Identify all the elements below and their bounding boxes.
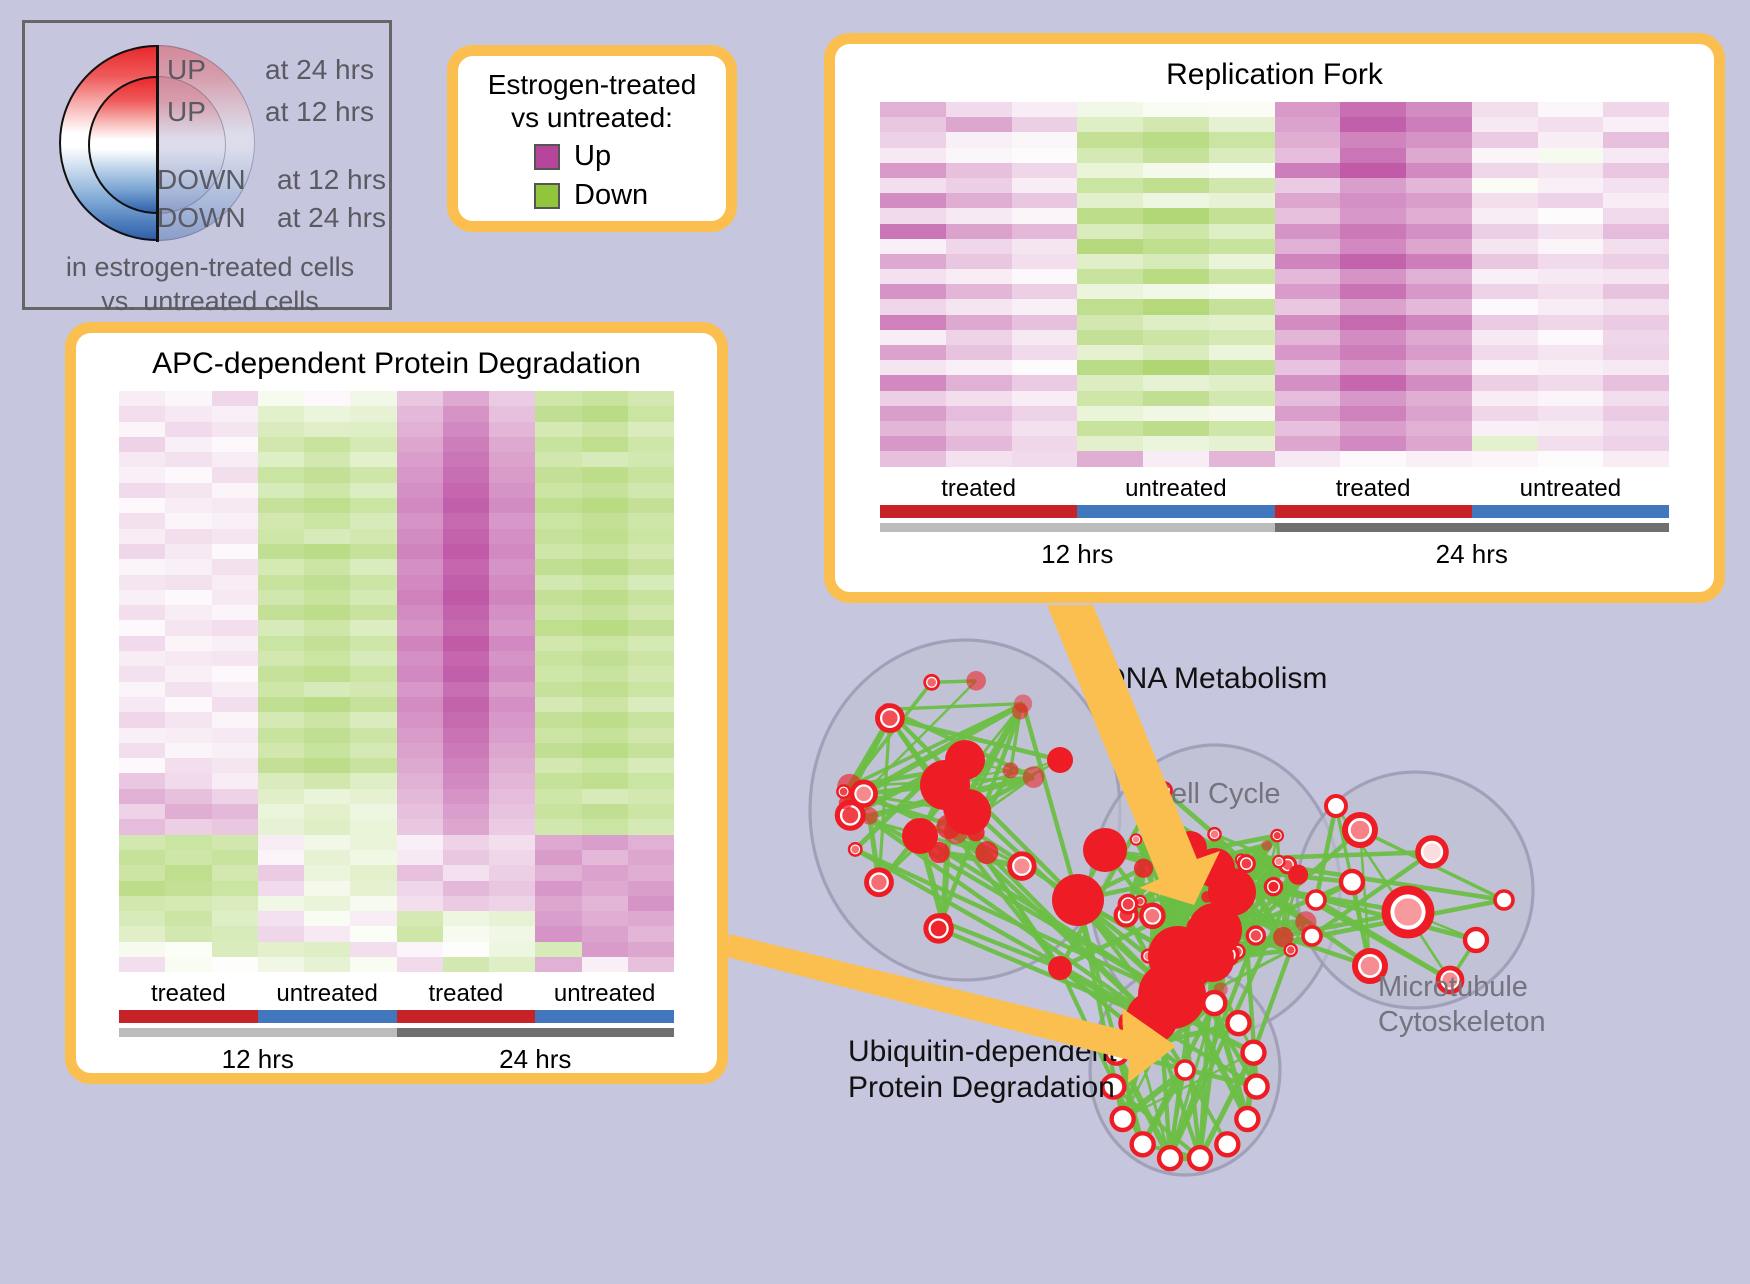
heatmap-cell [397,712,443,727]
heatmap-cell [1275,117,1341,132]
heatmap-cell [165,391,211,406]
group-label-0: treated [119,980,258,1008]
heatmap-cell [489,498,535,513]
heatmap-cell [443,498,489,513]
heatmap-cell [350,865,396,880]
heatmap-cell [489,406,535,421]
heatmap-cell [1472,421,1538,436]
heatmap-cell [946,436,1012,451]
heatmap-cell [304,452,350,467]
heatmap-cell [535,605,581,620]
heatmap-cell [258,406,304,421]
heatmap-cell [304,544,350,559]
heatmap-cell [350,926,396,941]
heatmap-cell [946,299,1012,314]
heatmap-cell [165,865,211,880]
heatmap-cell [628,773,674,788]
heatmap-cell [582,728,628,743]
heatmap-cell [1275,330,1341,345]
heatmap-cell [304,467,350,482]
heatmap-apc-degradation [119,391,674,972]
heatmap-cell [165,957,211,972]
legend-bar-segment [397,1028,675,1037]
heatmap-cell [1472,436,1538,451]
heatmap-cell [1077,360,1143,375]
heatmap-cell [946,391,1012,406]
heatmap-cell [165,926,211,941]
heatmap-cell [1012,391,1078,406]
heatmap-cell [1209,421,1275,436]
ring-time-down-24: at 24 hrs [277,202,386,234]
heatmap-cell [212,957,258,972]
heatmap-cell [258,605,304,620]
heatmap-cell [1077,117,1143,132]
heatmap-cell [258,467,304,482]
heatmap-cell [1275,391,1341,406]
heatmap-cell [535,590,581,605]
heatmap-cell [165,544,211,559]
heatmap-cell [1275,102,1341,117]
heatmap-cell [1012,284,1078,299]
network-node-core [1146,909,1160,923]
heatmap-cell [880,451,946,466]
heatmap-cell [880,375,946,390]
heatmap-cell [582,513,628,528]
heatmap-cell [165,728,211,743]
heatmap-cell [1143,360,1209,375]
heatmap-cell [489,697,535,712]
heatmap-cell [1012,345,1078,360]
heatmap-cell [628,743,674,758]
legend-bar-segment [1077,505,1274,518]
heatmap-cell [880,269,946,284]
heatmap-cell [165,575,211,590]
heatmap-cell [350,712,396,727]
heatmap-cell [304,804,350,819]
heatmap-cell [304,911,350,926]
heatmap-cell [165,636,211,651]
heatmap-cell [628,850,674,865]
group-label-2: treated [1275,475,1472,503]
heatmap-cell [489,682,535,697]
ring-legend-footer-line1: in estrogen-treated cells [25,251,395,285]
heatmap-cell [443,422,489,437]
panel-replication-fork: Replication Fork treated untreated treat… [824,33,1725,603]
heatmap-cell [443,743,489,758]
heatmap-cell [1012,375,1078,390]
heatmap-cell [946,163,1012,178]
network-node [1023,766,1045,788]
network-node [966,671,986,691]
heatmap-cell [1538,299,1604,314]
heatmap-cell [212,758,258,773]
network-node-core [1351,821,1370,840]
heatmap-cell [1143,345,1209,360]
heatmap-cell [212,773,258,788]
heatmap-cell [1077,269,1143,284]
group-label-3: untreated [535,980,674,1008]
heatmap-cell [165,789,211,804]
heatmap-cell [304,620,350,635]
heatmap-cell [1406,117,1472,132]
heatmap-cell [1077,132,1143,147]
heatmap-cell [489,529,535,544]
heatmap-cell [1603,269,1669,284]
heatmap-cell [1209,360,1275,375]
legend-bar-segment [397,1010,536,1023]
heatmap-cell [165,942,211,957]
heatmap-cell [397,467,443,482]
heatmap-cell [1143,284,1209,299]
heatmap-cell [212,819,258,834]
heatmap-cell [397,559,443,574]
heatmap-cell [628,804,674,819]
heatmap-cell [119,590,165,605]
heatmap-cell [350,743,396,758]
heatmap-cell [1275,315,1341,330]
heatmap-cell [1275,224,1341,239]
heatmap-cell [582,391,628,406]
heatmap-cell [165,666,211,681]
heatmap-cell [946,360,1012,375]
heatmap-cell [165,881,211,896]
heatmap-cell [212,391,258,406]
heatmap-cell [489,835,535,850]
heatmap-cell [1340,345,1406,360]
heatmap-cell [1406,330,1472,345]
heatmap-cell [165,498,211,513]
heatmap-cell [946,178,1012,193]
heatmap-cell [1406,360,1472,375]
heatmap-cell [1538,148,1604,163]
heatmap-cell [489,850,535,865]
down-color-swatch [534,183,560,209]
heatmap-cell [119,422,165,437]
network-node-core [1173,866,1186,879]
heatmap-cell [350,957,396,972]
heatmap-cell [1538,224,1604,239]
heatmap-cell [1077,375,1143,390]
heatmap-cell [628,758,674,773]
heatmap-cell [258,666,304,681]
heatmap-cell [304,728,350,743]
heatmap-cell [350,513,396,528]
heatmap-cell [1603,163,1669,178]
heatmap-cell [1603,421,1669,436]
ring-time-down-12: at 12 hrs [277,164,386,196]
down-label: Down [574,179,648,212]
heatmap-cell [258,483,304,498]
heatmap-cell [489,804,535,819]
heatmap-cell [1209,208,1275,223]
heatmap-cell [443,467,489,482]
heatmap-cell [535,697,581,712]
heatmap-cell [535,452,581,467]
heatmap-cell [443,896,489,911]
heatmap-cell [489,437,535,452]
heatmap-cell [535,544,581,559]
heatmap-cell [397,620,443,635]
heatmap-cell [350,544,396,559]
heatmap-cell [350,437,396,452]
network-node [1134,859,1153,878]
network-node [1048,956,1072,980]
heatmap-cell [535,804,581,819]
heatmap-cell [535,666,581,681]
heatmap-cell [397,682,443,697]
heatmap-cell [1340,224,1406,239]
heatmap-cell [397,850,443,865]
heatmap-cell [628,666,674,681]
heatmap-cell [119,896,165,911]
heatmap-cell [1406,436,1472,451]
heatmap-cell [258,865,304,880]
legend-row-up: Up [534,140,726,173]
heatmap-cell [212,896,258,911]
heatmap-cell [880,193,946,208]
heatmap-cell [628,422,674,437]
heatmap-cell [489,819,535,834]
heatmap-cell [119,926,165,941]
heatmap-cell [258,743,304,758]
heatmap-cell [628,636,674,651]
heatmap-cell [628,865,674,880]
heatmap-cell [304,942,350,957]
network-node-core [1133,836,1139,842]
heatmap-cell [1603,224,1669,239]
heatmap-cell [946,269,1012,284]
heatmap-cell [1406,178,1472,193]
heatmap-cell [1077,299,1143,314]
heatmap-cell [1143,117,1209,132]
legend-bar-segment [119,1010,258,1023]
heatmap-cell [1077,224,1143,239]
heatmap-cell [1538,269,1604,284]
heatmap-cell [165,835,211,850]
heatmap-cell [628,896,674,911]
heatmap-cell [1143,254,1209,269]
heatmap-cell [212,467,258,482]
heatmap-cell [397,513,443,528]
heatmap-cell [119,391,165,406]
heatmap-cell [1538,163,1604,178]
heatmap-cell [304,590,350,605]
heatmap-cell [119,513,165,528]
heatmap-cell [1143,239,1209,254]
heatmap-cell [1603,284,1669,299]
heatmap-cell [1406,284,1472,299]
heatmap-cell [1340,163,1406,178]
network-node-core [871,875,886,890]
heatmap-cell [212,728,258,743]
heatmap-cell [119,942,165,957]
heatmap-cell [1275,148,1341,163]
heatmap-cell [258,391,304,406]
heatmap-cell [1143,330,1209,345]
heatmap-cell [1275,284,1341,299]
heatmap-cell [628,651,674,666]
heatmap-cell [258,758,304,773]
heatmap-cell [397,942,443,957]
heatmap-cell [535,391,581,406]
heatmap-cell [119,804,165,819]
heatmap-cell [1406,421,1472,436]
heatmap-cell [1603,102,1669,117]
heatmap-cell [628,819,674,834]
heatmap-cell [304,682,350,697]
heatmap-cell [397,896,443,911]
heatmap-cell [443,789,489,804]
heatmap-cell [535,850,581,865]
heatmap-cell [1209,406,1275,421]
heatmap-cell [119,666,165,681]
heatmap-cell [582,406,628,421]
heatmap-cell [443,926,489,941]
legend-bar-segment [880,523,1275,532]
heatmap-cell [1472,330,1538,345]
heatmap-cell [304,789,350,804]
heatmap-cell [1406,451,1472,466]
heatmap-cell [212,590,258,605]
heatmap-cell [304,636,350,651]
heatmap-cell [258,789,304,804]
heatmap-cell [628,529,674,544]
heatmap-cell [628,483,674,498]
heatmap-cell [212,513,258,528]
heatmap-cell [212,666,258,681]
estrogen-legend-title-line1: Estrogen-treated [458,68,726,101]
heatmap-cell [1603,299,1669,314]
heatmap-cell [1012,315,1078,330]
heatmap-cell [304,529,350,544]
heatmap-cell [119,452,165,467]
heatmap-cell [582,835,628,850]
heatmap-cell [119,881,165,896]
network-node [1052,874,1104,926]
heatmap-cell [1340,254,1406,269]
heatmap-cell [582,636,628,651]
heatmap-cell [535,758,581,773]
heatmap-cell [1209,299,1275,314]
heatmap-cell [582,666,628,681]
heatmap-cell [628,452,674,467]
heatmap-cell [1143,163,1209,178]
heatmap-cell [350,636,396,651]
heatmap-cell [443,391,489,406]
heatmap-cell [582,467,628,482]
heatmap-cell [946,451,1012,466]
heatmap-cell [628,682,674,697]
heatmap-cell [1538,451,1604,466]
heatmap-cell [1472,178,1538,193]
network-node [1003,762,1019,778]
heatmap-cell [397,819,443,834]
heatmap-cell [443,666,489,681]
heatmap-cell [350,422,396,437]
heatmap-cell [212,498,258,513]
heatmap-cell [535,651,581,666]
heatmap-cell [258,422,304,437]
heatmap-cell [119,743,165,758]
heatmap-cell [443,605,489,620]
heatmap-cell [489,391,535,406]
heatmap-cell [1340,239,1406,254]
heatmap-cell [443,758,489,773]
heatmap-cell [628,911,674,926]
heatmap-cell [350,850,396,865]
heatmap-cell [1077,163,1143,178]
heatmap-cell [946,345,1012,360]
heatmap-cell [880,345,946,360]
ring-legend-footer-line2: vs. untreated cells [25,285,395,319]
heatmap-cell [582,620,628,635]
heatmap-cell [628,957,674,972]
heatmap-cell [397,605,443,620]
heatmap-cell [212,850,258,865]
heatmap-cell [304,697,350,712]
heatmap-cell [880,163,946,178]
heatmap-cell [443,819,489,834]
heatmap-cell [582,911,628,926]
heatmap-cell [1406,239,1472,254]
ubiquitin-line1: Ubiquitin-dependent [848,1034,1117,1070]
heatmap-cell [212,926,258,941]
heatmap-cell [443,651,489,666]
heatmap-cell [880,436,946,451]
heatmap-cell [1143,102,1209,117]
heatmap-cell [1209,330,1275,345]
heatmap-cell [165,651,211,666]
heatmap-cell [1209,436,1275,451]
heatmap-cell [165,620,211,635]
heatmap-cell [165,452,211,467]
cluster-label-microtubule: Microtubule Cytoskeleton [1378,970,1546,1040]
heatmap-cell [582,575,628,590]
heatmap-cell [489,881,535,896]
heatmap-cell [489,758,535,773]
heatmap-cell [350,498,396,513]
heatmap-cell [489,789,535,804]
heatmap-cell [119,406,165,421]
heatmap-cell [946,284,1012,299]
legend-bar-segment [119,1028,397,1037]
heatmap-cell [1077,451,1143,466]
time-label-12: 12 hrs [880,539,1275,570]
heatmap-cell [1275,254,1341,269]
heatmap-cell [1275,421,1341,436]
group-label-3: untreated [1472,475,1669,503]
heatmap-cell [397,636,443,651]
heatmap-cell [1077,284,1143,299]
heatmap-cell [1275,345,1341,360]
network-node [902,818,938,854]
heatmap-cell [1143,208,1209,223]
heatmap-cell [946,375,1012,390]
heatmap-cell [258,452,304,467]
heatmap-cell [165,483,211,498]
heatmap-cell [1472,208,1538,223]
network-node-core [927,678,936,687]
heatmap-cell [165,437,211,452]
heatmap-cell [1538,178,1604,193]
heatmap-cell [535,575,581,590]
heatmap-cell [1143,193,1209,208]
heatmap-cell [1340,193,1406,208]
heatmap-cell [1209,193,1275,208]
heatmap-cell [535,467,581,482]
heatmap-cell [628,620,674,635]
heatmap-cell [1406,406,1472,421]
